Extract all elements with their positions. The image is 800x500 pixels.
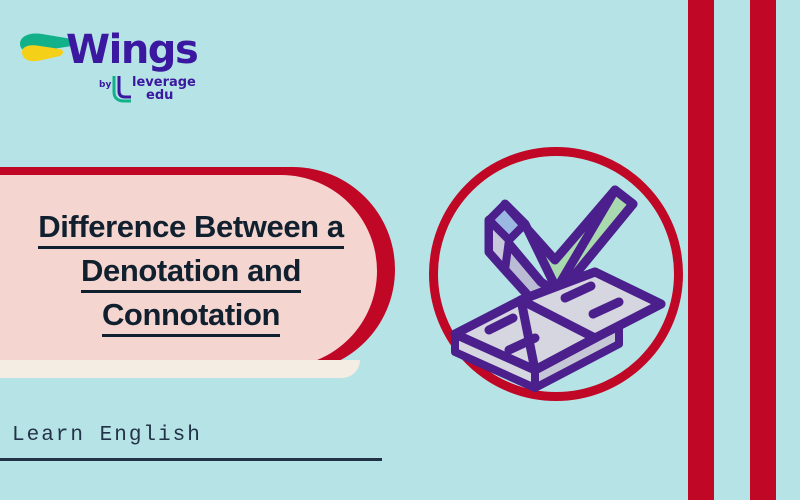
logo-sub-brand-line-2: edu bbox=[146, 89, 196, 102]
page-title-line-3: Connotation bbox=[0, 293, 382, 337]
footer-label: Learn English bbox=[12, 424, 382, 447]
vertical-red-bar-right bbox=[750, 0, 776, 500]
page-title-line-1: Difference Between a bbox=[0, 205, 382, 249]
thumbnail-canvas: Difference Between a Denotation and Conn… bbox=[0, 0, 800, 500]
title-panel-footer-strip bbox=[0, 360, 360, 378]
footer: Learn English bbox=[0, 424, 382, 447]
book-check-svg bbox=[443, 172, 673, 392]
logo-wordmark: Wings bbox=[66, 30, 197, 70]
page-title-line-2: Denotation and bbox=[0, 249, 382, 293]
logo-sub-brand: leverage edu bbox=[132, 76, 196, 102]
open-book-icon bbox=[455, 272, 661, 388]
footer-divider bbox=[0, 458, 382, 461]
vertical-red-bar-left bbox=[688, 0, 714, 500]
wings-logo[interactable]: Wings by leverage edu bbox=[14, 18, 194, 108]
page-title: Difference Between a Denotation and Conn… bbox=[0, 205, 382, 337]
